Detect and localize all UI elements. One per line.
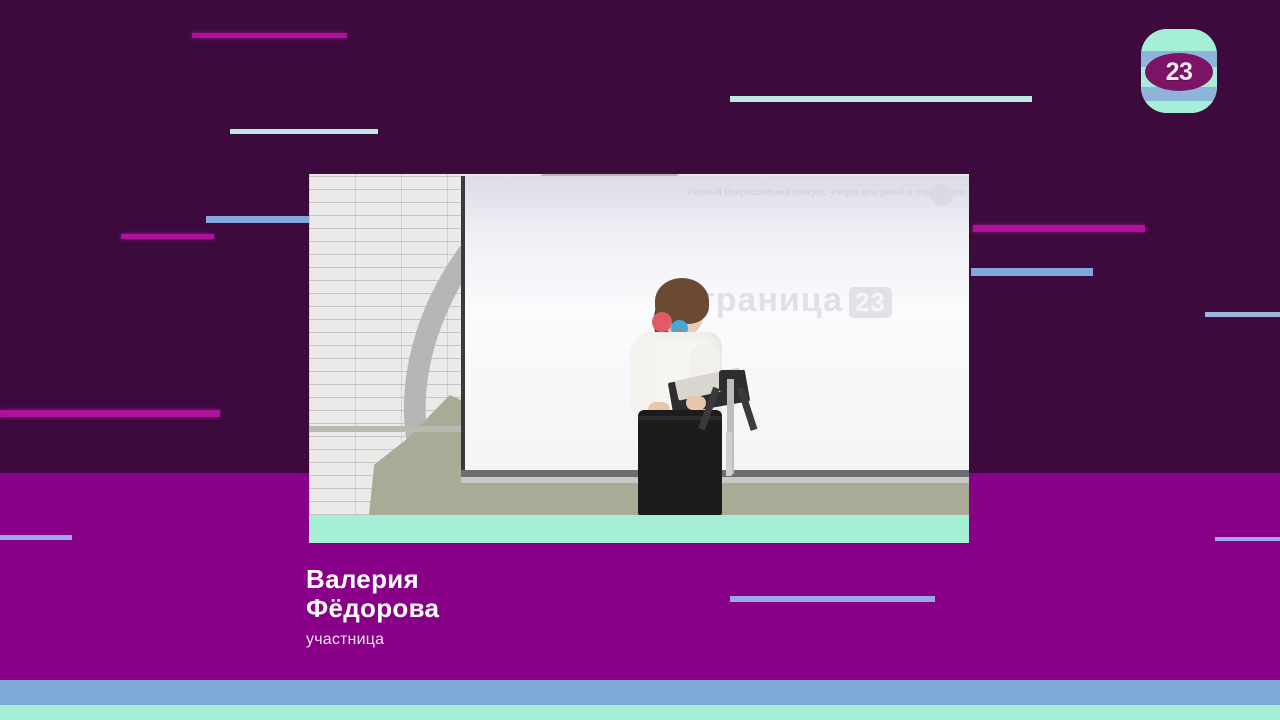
photo-mint-strip xyxy=(309,515,969,543)
logo-stripe-1 xyxy=(1141,29,1217,51)
deco-line-peri-caption xyxy=(730,596,935,602)
black-trousers xyxy=(638,410,722,515)
deco-line-blue-left xyxy=(206,216,323,223)
deco-line-cyan-top xyxy=(730,96,1032,102)
bottom-mint-band xyxy=(0,705,1280,720)
participant-photo: Первый Всероссийский конкурс чтецов для … xyxy=(309,174,969,543)
participant-name-line-2: Фёдорова xyxy=(306,594,706,623)
earphone-icon xyxy=(652,312,672,332)
deco-line-magenta-right xyxy=(973,225,1145,232)
logo-ellipse: 23 xyxy=(1145,53,1213,91)
channel-logo: 23 xyxy=(1141,29,1217,113)
logo-number: 23 xyxy=(1166,58,1193,87)
deco-line-peri-lower xyxy=(0,535,72,540)
deco-line-cyan-left xyxy=(230,129,378,134)
bottom-blue-band xyxy=(0,680,1280,705)
photo-scene: Первый Всероссийский конкурс чтецов для … xyxy=(309,174,969,515)
screen-header-text: Первый Всероссийский конкурс чтецов для … xyxy=(665,186,965,198)
deco-line-blue-right xyxy=(971,268,1093,276)
participant-figure xyxy=(624,284,744,515)
deco-line-magenta-top xyxy=(192,33,347,38)
screen-logo-badge: 23 xyxy=(849,287,892,318)
participant-name: Валерия Фёдорова xyxy=(306,565,706,623)
participant-name-line-1: Валерия xyxy=(306,565,706,594)
deco-line-blue-far-right xyxy=(1205,312,1280,317)
participant-caption: Валерия Фёдорова участница xyxy=(306,565,706,650)
logo-stripe-5 xyxy=(1141,101,1217,113)
deco-line-magenta-mid xyxy=(0,410,220,417)
participant-role: участница xyxy=(306,630,706,650)
tripod-center-post xyxy=(726,432,732,476)
right-hand xyxy=(686,396,706,410)
deco-line-magenta-left xyxy=(121,234,214,239)
deco-line-peri-right xyxy=(1215,537,1280,541)
screen-corner-emblem xyxy=(931,184,953,206)
